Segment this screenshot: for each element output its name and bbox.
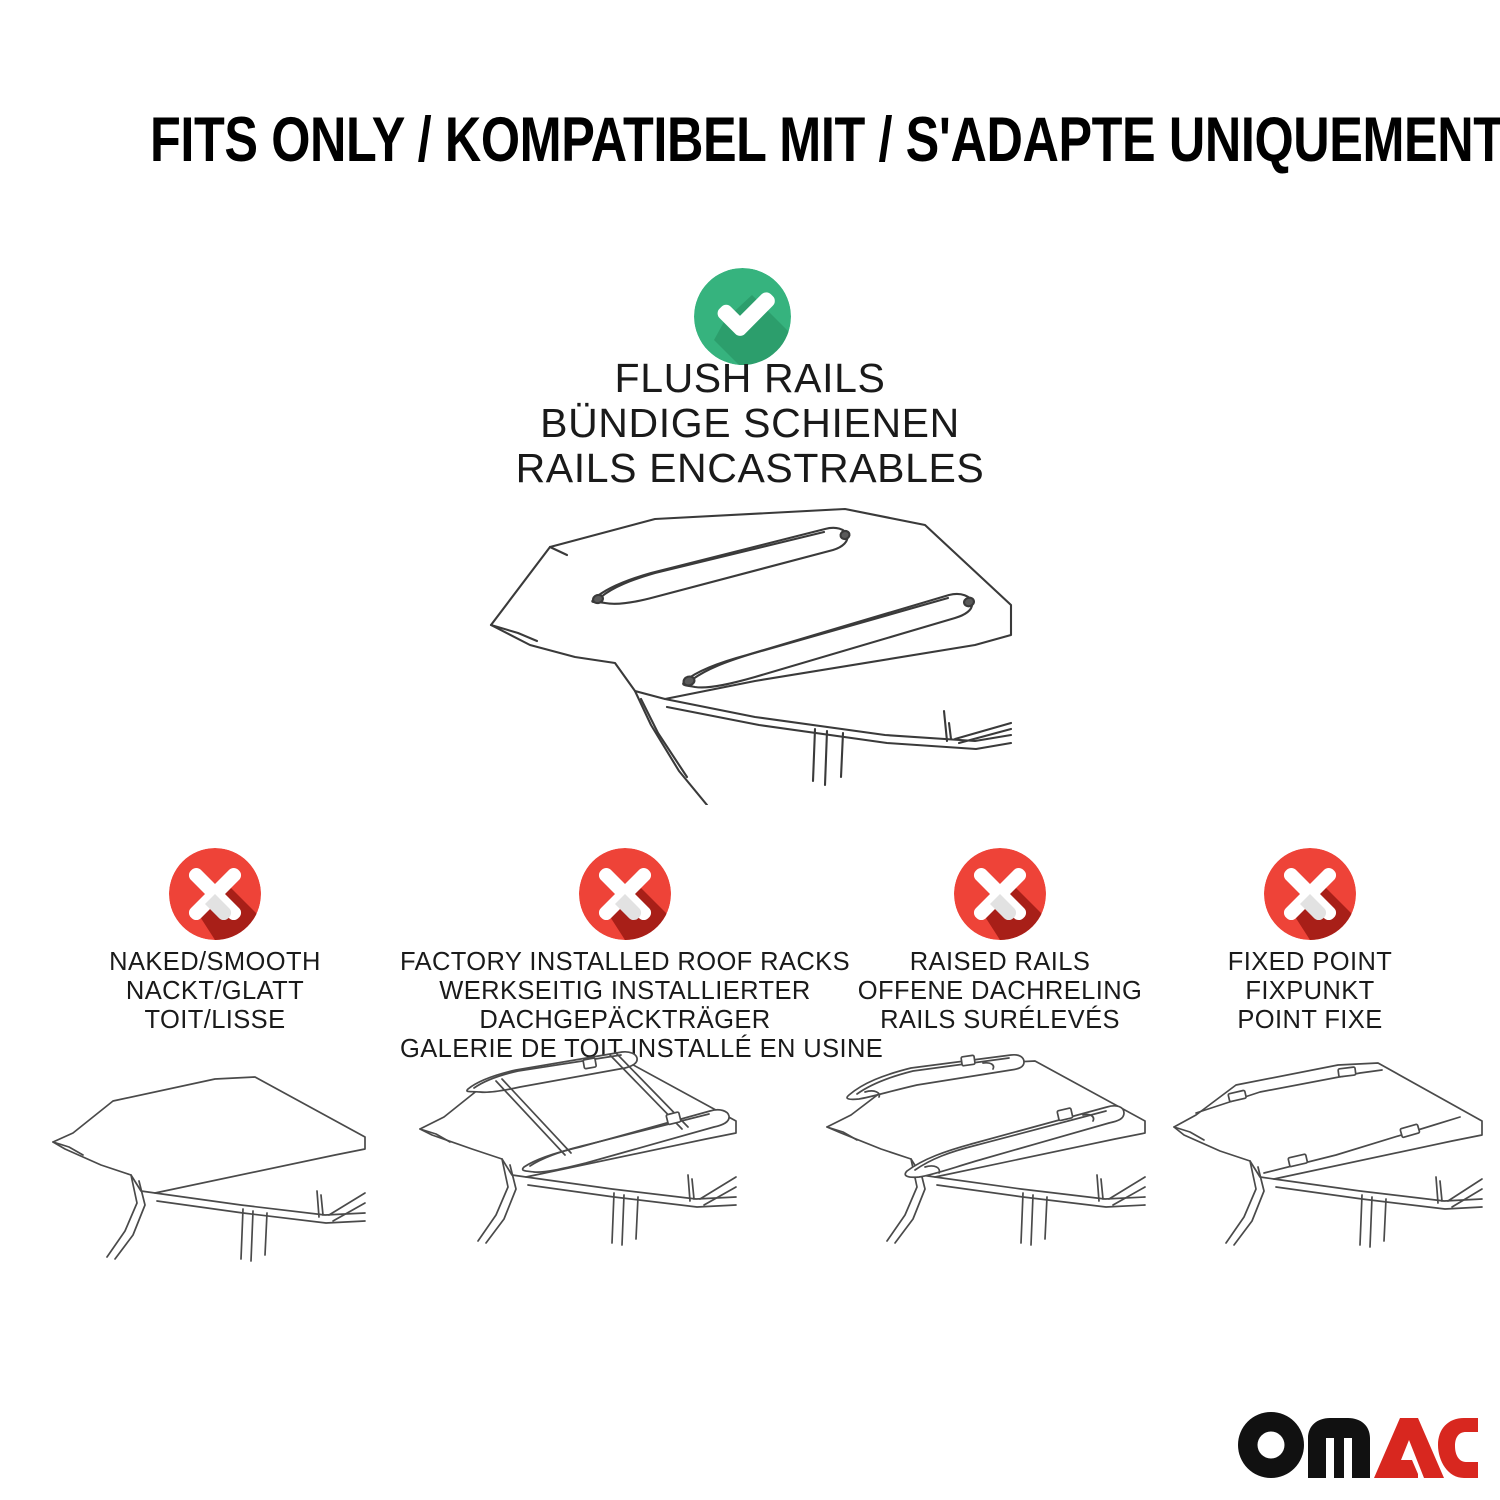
incompatible-label-line-2: OFFENE DACHRELING (830, 977, 1170, 1006)
compatible-label-line-2: BÜNDIGE SCHIENEN (350, 401, 1150, 446)
car-roof-factory-roof-racks-illustration (410, 1045, 770, 1300)
incompatible-label: RAISED RAILS OFFENE DACHRELING RAILS SUR… (830, 948, 1170, 1035)
car-roof-naked-smooth-illustration (45, 1045, 390, 1300)
incompatible-label-line-1: FACTORY INSTALLED ROOF RACKS (400, 948, 850, 977)
cross-circle-icon (954, 848, 1046, 940)
compatible-label-line-1: FLUSH RAILS (350, 356, 1150, 401)
car-roof-fixed-point-illustration (1160, 1045, 1500, 1300)
incompatible-label: NAKED/SMOOTH NACKT/GLATT TOIT/LISSE (60, 948, 370, 1035)
page-title: FITS ONLY / KOMPATIBEL MIT / S'ADAPTE UN… (150, 104, 1350, 176)
incompatible-label-line-2: FIXPUNKT (1160, 977, 1460, 1006)
incompatible-label: FIXED POINT FIXPUNKT POINT FIXE (1160, 948, 1460, 1035)
incompatible-label-line-3: TOIT/LISSE (60, 1006, 370, 1035)
incompatible-label-line-1: FIXED POINT (1160, 948, 1460, 977)
fitment-infographic: FITS ONLY / KOMPATIBEL MIT / S'ADAPTE UN… (0, 0, 1500, 1500)
incompatible-label-line-3: DACHGEPÄCKTRÄGER (400, 1006, 850, 1035)
incompatible-label-line-3: POINT FIXE (1160, 1006, 1460, 1035)
incompatible-label-line-1: NAKED/SMOOTH (60, 948, 370, 977)
incompatible-label-line-3: RAILS SURÉLEVÉS (830, 1006, 1170, 1035)
check-circle-icon (694, 268, 791, 365)
cross-circle-icon (169, 848, 261, 940)
incompatible-label-line-1: RAISED RAILS (830, 948, 1170, 977)
incompatible-label-line-2: NACKT/GLATT (60, 977, 370, 1006)
car-roof-raised-rails-illustration (815, 1045, 1180, 1300)
car-roof-flush-rails-illustration (455, 485, 1055, 805)
cross-circle-icon (579, 848, 671, 940)
cross-circle-icon (1264, 848, 1356, 940)
incompatible-label-line-2: WERKSEITIG INSTALLIERTER (400, 977, 850, 1006)
compatible-label: FLUSH RAILS BÜNDIGE SCHIENEN RAILS ENCAS… (350, 356, 1150, 491)
omac-logo (1238, 1412, 1478, 1478)
